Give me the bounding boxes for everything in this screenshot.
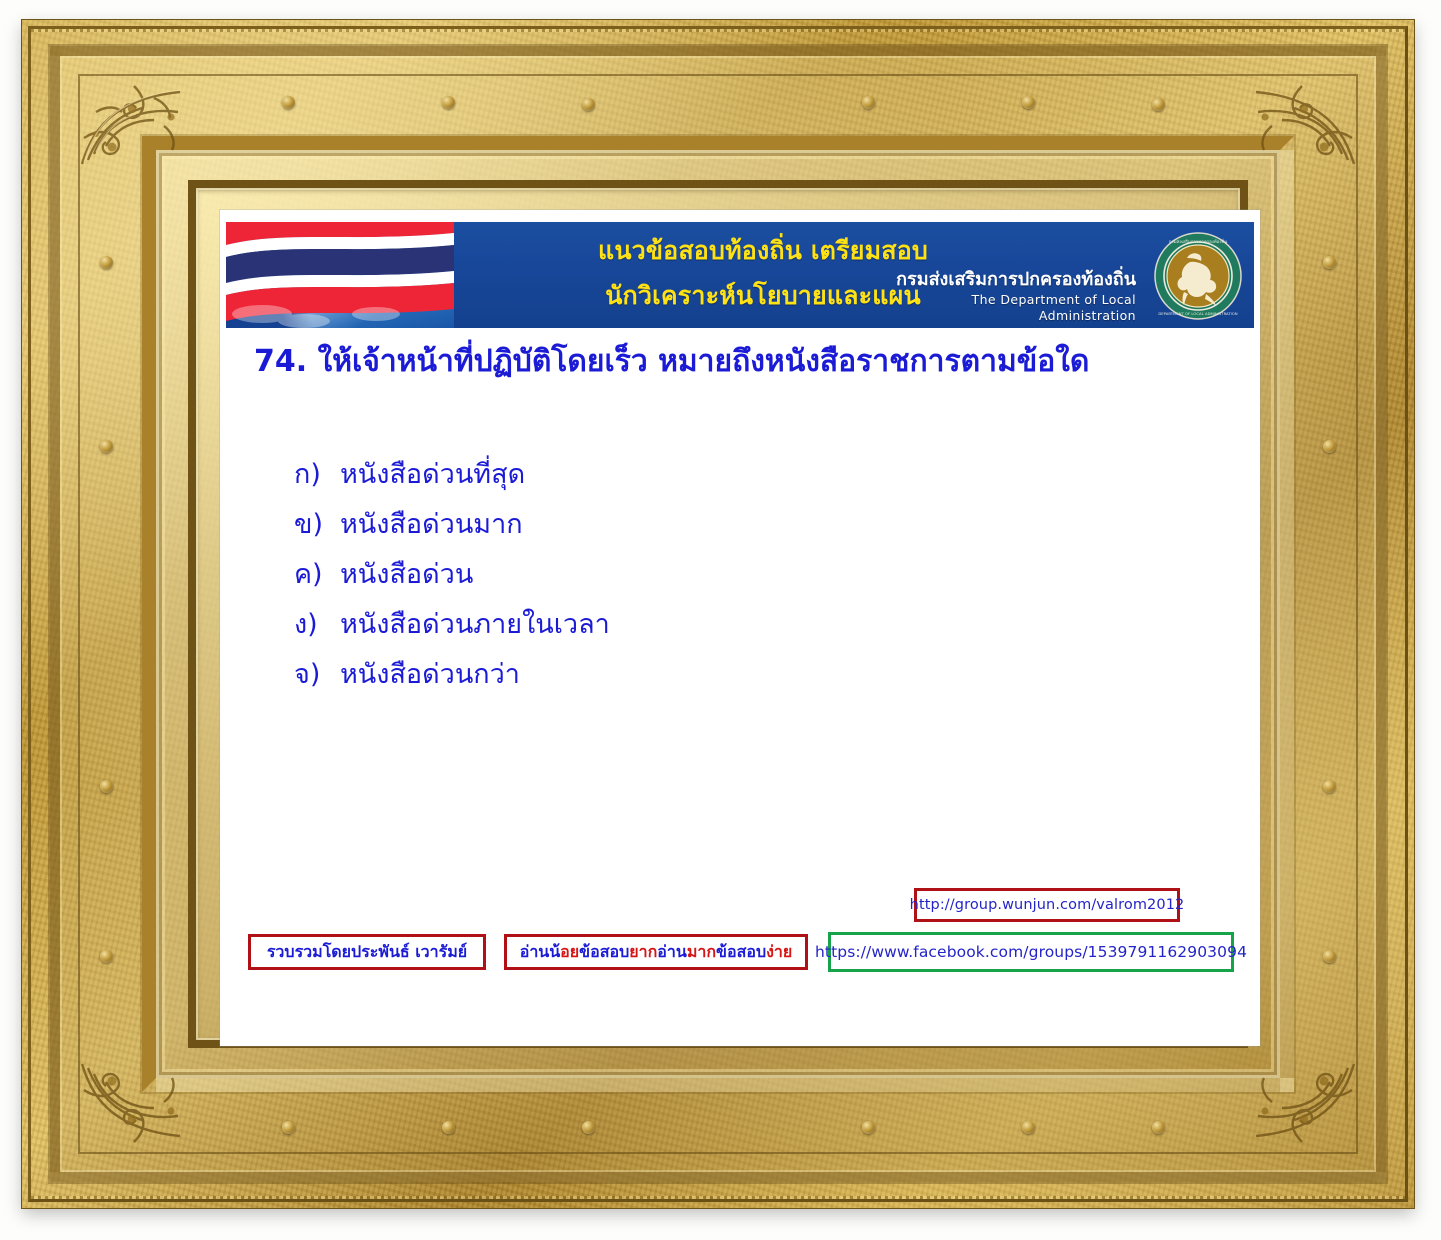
frame-stud (862, 1121, 875, 1134)
author-credit-badge: รวบรวมโดยประพันธ์ เวารัมย์ (248, 934, 486, 970)
frame-stud (1022, 96, 1035, 109)
thai-flag-icon (226, 222, 454, 328)
facebook-group-url-badge[interactable]: https://www.facebook.com/groups/15397911… (828, 932, 1234, 972)
frame-stud (282, 96, 295, 109)
frame-stud (582, 98, 595, 111)
department-name-english: The Department of Local Administration (872, 292, 1136, 324)
answer-choice[interactable]: ค) หนังสือด่วน (294, 550, 1194, 600)
motto-segment: อย (560, 940, 579, 965)
question-text: 74. ให้เจ้าหน้าที่ปฏิบัติโดยเร็ว หมายถึง… (254, 338, 1214, 386)
acanthus-corner-ornament-icon (1246, 68, 1364, 180)
answer-choice-list: ก) หนังสือด่วนที่สุด ข) หนังสือด่วนมาก ค… (294, 450, 1194, 700)
frame-stud (1152, 98, 1165, 111)
motto-segment: มาก (687, 940, 716, 965)
answer-choice[interactable]: ก) หนังสือด่วนที่สุด (294, 450, 1194, 500)
acanthus-corner-ornament-icon (72, 68, 190, 180)
frame-stud (1323, 440, 1336, 453)
frame-stud (1323, 950, 1336, 963)
svg-text:DEPARTMENT OF LOCAL ADMINISTRA: DEPARTMENT OF LOCAL ADMINISTRATION (1158, 311, 1237, 316)
department-of-local-administration-seal-icon: กรมส่งเสริมการปกครองท้องถิ่น DEPARTMENT … (1154, 232, 1242, 320)
answer-choice[interactable]: ข) หนังสือด่วนมาก (294, 500, 1194, 550)
motto-segment: อ่าน (657, 940, 687, 965)
motto-segment: ยาก (629, 940, 657, 965)
frame-stud (1323, 256, 1336, 269)
frame-stud (582, 1121, 595, 1134)
motto-segment: ข้อสอบ (716, 940, 766, 965)
frame-stud (1022, 1121, 1035, 1134)
department-name-group: กรมส่งเสริมการปกครองท้องถิ่น The Departm… (872, 268, 1136, 324)
frame-stud (1152, 1121, 1165, 1134)
study-motto-badge: อ่านน้อยข้อสอบยาก อ่านมากข้อสอบง่าย (504, 934, 808, 970)
frame-stud (100, 256, 113, 269)
frame-stud (100, 440, 113, 453)
picture-frame: แนวข้อสอบท้องถิ่น เตรียมสอบ นักวิเคราะห์… (22, 20, 1414, 1208)
svg-text:กรมส่งเสริมการปกครองท้องถิ่น: กรมส่งเสริมการปกครองท้องถิ่น (1169, 238, 1228, 245)
answer-choice-text: หนังสือด่วนที่สุด (340, 450, 525, 500)
frame-stud (442, 96, 455, 109)
answer-choice-text: หนังสือด่วน (340, 550, 473, 600)
answer-choice-key: จ) (294, 650, 340, 700)
motto-segment: ง่าย (766, 940, 792, 965)
motto-segment: ข้อสอบ (579, 940, 629, 965)
banner-title-line-1: แนวข้อสอบท้องถิ่น เตรียมสอบ (458, 228, 1068, 273)
answer-choice[interactable]: จ) หนังสือด่วนกว่า (294, 650, 1194, 700)
page-root: แนวข้อสอบท้องถิ่น เตรียมสอบ นักวิเคราะห์… (0, 0, 1441, 1240)
frame-stud (282, 1121, 295, 1134)
answer-choice-key: ข) (294, 500, 340, 550)
department-name-thai: กรมส่งเสริมการปกครองท้องถิ่น (872, 268, 1136, 292)
answer-choice-key: ก) (294, 450, 340, 500)
acanthus-corner-ornament-icon (1246, 1048, 1364, 1160)
answer-choice-text: หนังสือด่วนภายในเวลา (340, 600, 610, 650)
acanthus-corner-ornament-icon (72, 1048, 190, 1160)
frame-stud (100, 780, 113, 793)
website-url-badge[interactable]: http://group.wunjun.com/valrom2012 (914, 888, 1180, 922)
motto-segment: อ่านน้ (520, 940, 560, 965)
answer-choice[interactable]: ง) หนังสือด่วนภายในเวลา (294, 600, 1194, 650)
frame-stud (100, 950, 113, 963)
slide-header-banner: แนวข้อสอบท้องถิ่น เตรียมสอบ นักวิเคราะห์… (226, 222, 1254, 328)
frame-stud (1323, 780, 1336, 793)
frame-stud (862, 96, 875, 109)
answer-choice-text: หนังสือด่วนกว่า (340, 650, 520, 700)
answer-choice-key: ง) (294, 600, 340, 650)
answer-choice-text: หนังสือด่วนมาก (340, 500, 523, 550)
frame-stud (442, 1121, 455, 1134)
slide-canvas: แนวข้อสอบท้องถิ่น เตรียมสอบ นักวิเคราะห์… (220, 210, 1260, 1046)
answer-choice-key: ค) (294, 550, 340, 600)
